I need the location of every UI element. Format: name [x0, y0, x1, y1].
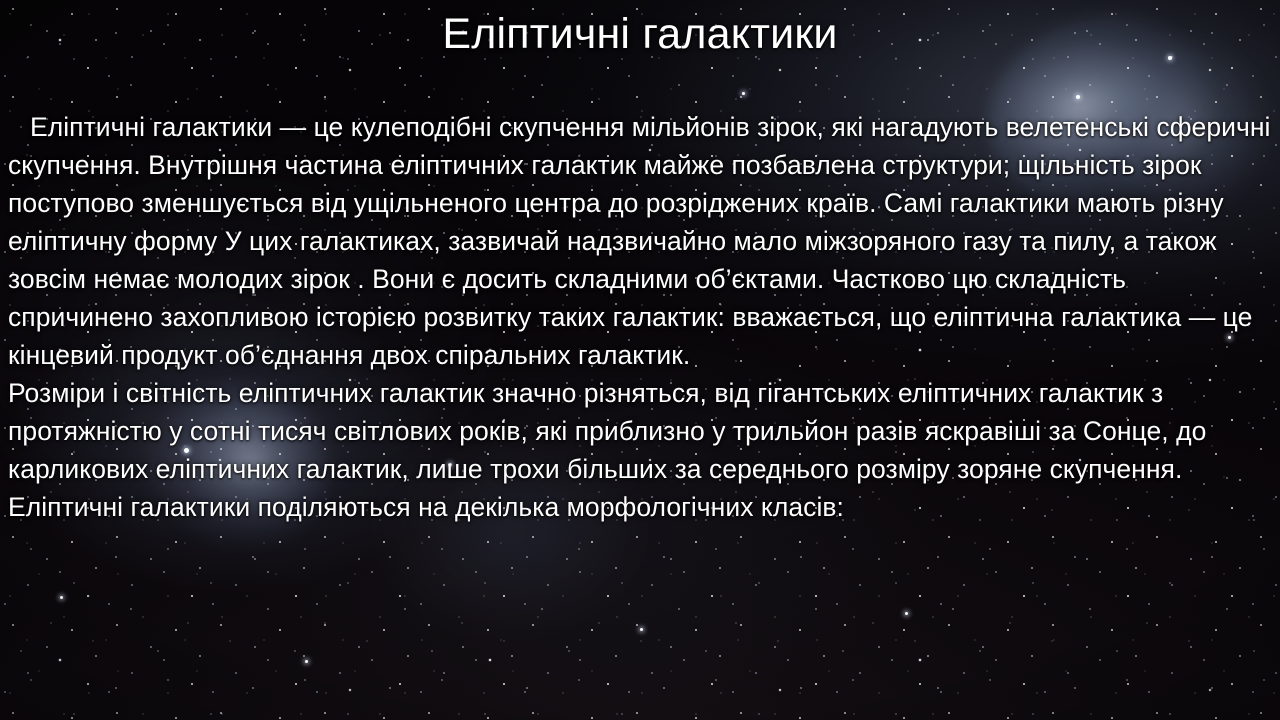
body-paragraph-2: Розміри і світність еліптичних галактик …	[8, 374, 1274, 526]
presentation-slide: Еліптичні галактики Еліптичні галактики …	[0, 0, 1280, 720]
body-paragraph-1: Еліптичні галактики — це кулеподібні ску…	[8, 108, 1274, 374]
slide-title: Еліптичні галактики	[0, 8, 1280, 60]
slide-body: Еліптичні галактики — це кулеподібні ску…	[8, 108, 1274, 526]
slide-content: Еліптичні галактики Еліптичні галактики …	[0, 0, 1280, 720]
